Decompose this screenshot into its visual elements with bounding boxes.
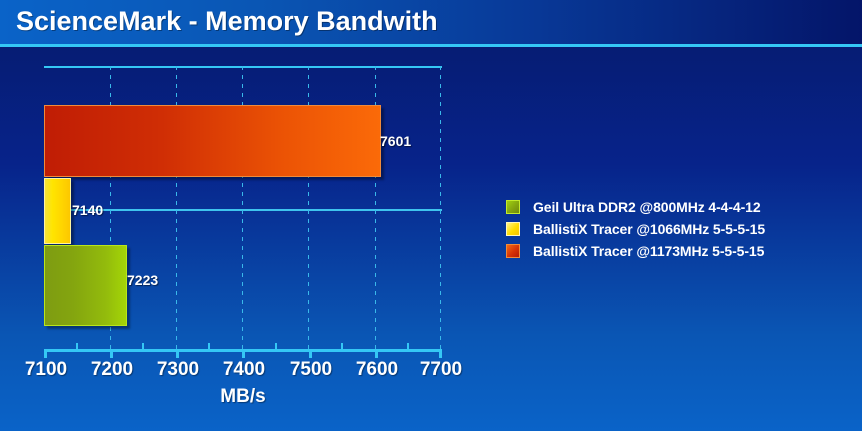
x-tick-minor-7450: [275, 343, 277, 349]
bar-geil-ultra-800[interactable]: [44, 245, 127, 326]
x-tick-minor-7250: [142, 343, 144, 349]
x-axis-title: MB/s: [44, 386, 442, 408]
bar-value-label-7601: 7601: [380, 133, 411, 149]
bar-value-label-7140: 7140: [72, 202, 103, 218]
legend-item-ballistix-1066[interactable]: BallistiX Tracer @1066MHz 5-5-5-15: [506, 218, 765, 240]
x-tick-label-7300: 7300: [157, 359, 199, 381]
x-tick-label-7500: 7500: [290, 359, 332, 381]
x-tick-label-7200: 7200: [91, 359, 133, 381]
x-tick-label-7700: 7700: [420, 359, 462, 381]
x-tick-label-7600: 7600: [356, 359, 398, 381]
title-underline: [0, 44, 862, 47]
bar-value-label-7223: 7223: [127, 272, 158, 288]
legend-swatch-green-icon: [506, 200, 520, 214]
gridline-7700: [440, 66, 441, 350]
x-tick-7100: [44, 349, 47, 358]
legend-label-ballistix-1173: BallistiX Tracer @1173MHz 5-5-5-15: [533, 243, 764, 259]
x-tick-7300: [176, 349, 179, 358]
title-bar: ScienceMark - Memory Bandwith: [0, 0, 862, 44]
x-tick-minor-7550: [341, 343, 343, 349]
legend-item-geil-ultra-800[interactable]: Geil Ultra DDR2 @800MHz 4-4-4-12: [506, 196, 765, 218]
legend: Geil Ultra DDR2 @800MHz 4-4-4-12 Ballist…: [506, 196, 765, 262]
x-tick-label-7100: 7100: [25, 359, 67, 381]
plot-area: [44, 66, 442, 350]
x-tick-7200: [110, 349, 113, 358]
legend-item-ballistix-1173[interactable]: BallistiX Tracer @1173MHz 5-5-5-15: [506, 240, 765, 262]
x-tick-7700: [439, 349, 442, 358]
x-tick-7400: [242, 349, 245, 358]
legend-label-geil-ultra-800: Geil Ultra DDR2 @800MHz 4-4-4-12: [533, 199, 761, 215]
x-tick-minor-7150: [76, 343, 78, 349]
x-tick-minor-7350: [208, 343, 210, 349]
bar-ballistix-1173[interactable]: [44, 105, 381, 177]
legend-swatch-red-icon: [506, 244, 520, 258]
legend-label-ballistix-1066: BallistiX Tracer @1066MHz 5-5-5-15: [533, 221, 765, 237]
chart-canvas: ScienceMark - Memory Bandwith 7601 7140 …: [0, 0, 862, 431]
legend-swatch-yellow-icon: [506, 222, 520, 236]
x-tick-7600: [375, 349, 378, 358]
chart-title: ScienceMark - Memory Bandwith: [16, 6, 438, 37]
x-tick-label-7400: 7400: [223, 359, 265, 381]
x-tick-7500: [309, 349, 312, 358]
x-tick-minor-7650: [407, 343, 409, 349]
bar-ballistix-1066[interactable]: [44, 178, 71, 244]
